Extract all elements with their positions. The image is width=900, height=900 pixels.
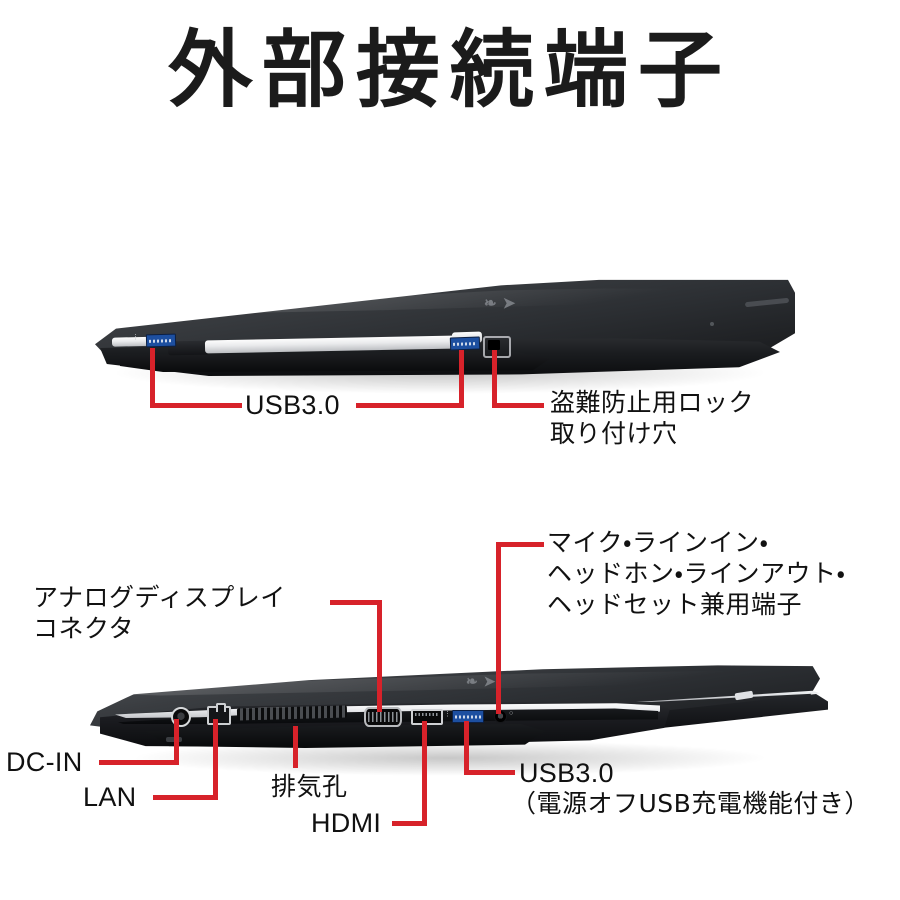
- audio-marking: ○: [509, 710, 513, 717]
- callout-usb30-charge-line1: USB3.0: [519, 757, 614, 790]
- callout-dcin: DC-IN: [6, 746, 83, 779]
- hdmi-port: [411, 709, 443, 725]
- leader-lan-vertical: [213, 719, 218, 800]
- leader-vga-horizontal: [330, 600, 382, 605]
- leader-usb3charge-vertical: [464, 721, 469, 775]
- callout-vga-line2: コネクタ: [33, 614, 134, 645]
- callout-lan: LAN: [83, 781, 136, 814]
- callout-usb30-charge-line2: （電源オフUSB充電機能付き）: [511, 789, 870, 820]
- vga-port: [364, 707, 402, 727]
- callout-vent: 排気孔: [271, 772, 348, 803]
- product-spec-image: 外部接続端子 ❧ ➤ ⋮: [0, 0, 900, 900]
- leader-hdmi-vertical: [422, 721, 427, 826]
- leader-audio-vertical: [496, 542, 501, 714]
- leader-audio-horizontal: [496, 542, 544, 547]
- laptop-bottom-view: ❧ ➤: [0, 0, 900, 900]
- callout-audio-line2: ヘッドホン・ラインアウト・: [547, 559, 846, 590]
- callout-vga-line1: アナログディスプレイ: [33, 583, 286, 614]
- callout-hdmi: HDMI: [311, 807, 381, 840]
- leader-usb3charge-horizontal: [464, 770, 515, 775]
- leader-hdmi-horizontal: [392, 821, 427, 826]
- leader-dcin-horizontal: [99, 760, 179, 765]
- callout-audio-line1: マイク・ラインイン・: [547, 528, 769, 559]
- lan-clip: [216, 703, 226, 712]
- leader-dcin-vertical: [174, 719, 179, 765]
- callout-audio-line3: ヘッドセット兼用端子: [547, 590, 802, 621]
- lan-port: [207, 706, 231, 725]
- leader-vga-vertical: [377, 600, 382, 712]
- leader-lan-horizontal: [153, 795, 218, 800]
- usb-marking-charge: ⋮: [444, 710, 451, 718]
- brand-logo-bottom: ❧ ➤: [466, 673, 496, 690]
- leader-vent-vertical: [293, 726, 298, 768]
